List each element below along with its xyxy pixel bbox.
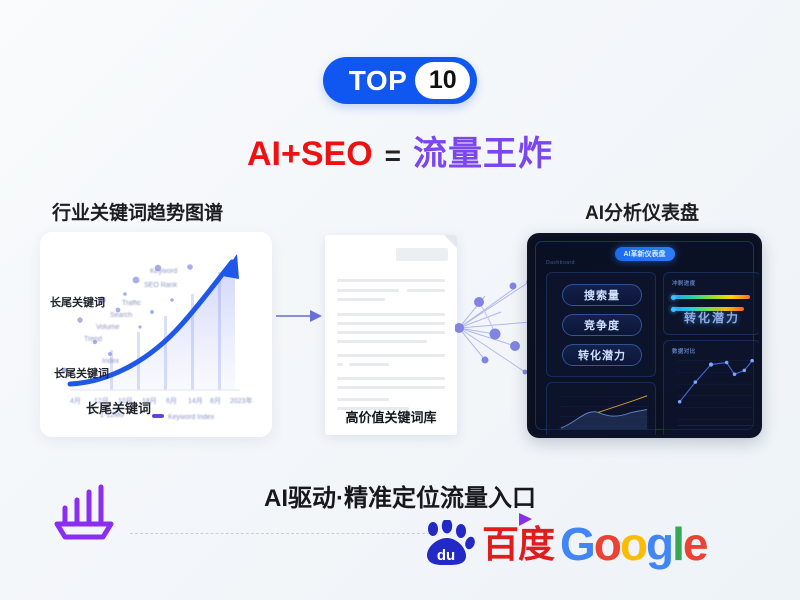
metrics-panel: 搜索量 竞争度 转化潜力 bbox=[546, 272, 656, 377]
doc-caption: 高价值关键词库 bbox=[325, 407, 457, 426]
trend-blur-text-3: Traffic bbox=[122, 300, 141, 307]
line-chart-panel: 数据对比 bbox=[663, 340, 761, 438]
trend-footnote: 1-12Mo bbox=[100, 412, 124, 419]
google-wordmark: G o o g l e bbox=[560, 521, 706, 567]
google-letter-3: o bbox=[620, 521, 646, 567]
trend-label-2: 长尾关键词 bbox=[54, 365, 109, 381]
ai-dashboard-card: AI革新仪表盘 Dashboard 搜索量 竞争度 转化潜力 bbox=[527, 233, 762, 438]
title-right: 流量王炸 bbox=[413, 126, 553, 175]
search-engine-logos: du 百度 G o o g l e bbox=[420, 520, 706, 568]
trend-legend: Keyword Index bbox=[168, 414, 214, 421]
arrow-connector-icon bbox=[276, 308, 324, 324]
google-letter-4: g bbox=[646, 521, 672, 567]
left-section-caption: 行业关键词趋势图谱 bbox=[52, 198, 223, 225]
svg-text:du: du bbox=[437, 547, 455, 564]
progress-panel: 冲刺进度 转化潜力 bbox=[663, 272, 761, 335]
google-letter-5: l bbox=[672, 521, 683, 567]
progress-overlay-label: 转化潜力 bbox=[664, 309, 760, 326]
trend-blur-text-7: Index bbox=[102, 358, 119, 365]
trend-blur-text-6: Trend bbox=[84, 336, 102, 343]
trend-legend-swatch bbox=[152, 414, 164, 420]
top-badge: TOP 10 bbox=[323, 57, 478, 104]
trend-tick-6: 14月 bbox=[188, 396, 203, 406]
trend-chart-card: 长尾关键词 长尾关键词 长尾关键词 Keyword SEO Rank Traff… bbox=[40, 232, 272, 437]
metric-pill-competition[interactable]: 竞争度 bbox=[562, 314, 642, 336]
trend-blur-text-2: SEO Rank bbox=[144, 282, 177, 289]
progress-dot-1 bbox=[671, 295, 676, 300]
trend-tick-7: 8月 bbox=[210, 396, 221, 406]
title-left: AI+SEO bbox=[247, 135, 373, 174]
google-letter-1: G bbox=[560, 521, 594, 567]
dashboard-inner-frame: AI革新仪表盘 Dashboard 搜索量 竞争度 转化潜力 bbox=[535, 241, 754, 430]
google-letter-6: e bbox=[683, 521, 707, 567]
dashboard-subtitle: Dashboard bbox=[546, 260, 575, 266]
trend-tick-1: 4月 bbox=[70, 396, 81, 406]
progress-bar-1 bbox=[674, 295, 750, 299]
trend-tick-2: 12月 bbox=[94, 396, 109, 406]
trend-tick-8: 2023年 bbox=[230, 396, 253, 406]
node-network-connector bbox=[455, 272, 535, 382]
top-badge-number: 10 bbox=[415, 62, 470, 99]
baidu-wordmark: 百度 bbox=[482, 526, 554, 563]
baidu-paw-icon: du bbox=[420, 520, 476, 568]
footer-divider bbox=[130, 533, 430, 534]
doc-header-chip bbox=[396, 248, 448, 261]
area-chart-panel bbox=[546, 382, 656, 438]
progress-panel-title: 冲刺进度 bbox=[672, 279, 696, 287]
trend-tick-4: 18月 bbox=[142, 396, 157, 406]
trend-tick-3: 10月 bbox=[118, 396, 133, 406]
trend-blur-text-4: Search bbox=[110, 312, 132, 319]
play-triangle-icon bbox=[515, 512, 535, 528]
trend-blur-text-5: Volume bbox=[96, 324, 119, 331]
trend-blur-text-1: Keyword bbox=[150, 268, 177, 275]
area-chart-svg bbox=[547, 383, 655, 438]
bar-chart-pedestal-icon bbox=[48, 478, 120, 544]
trend-chart-svg bbox=[40, 232, 272, 437]
right-section-caption: AI分析仪表盘 bbox=[585, 198, 699, 225]
keyword-doc-card: 高价值关键词库 bbox=[325, 235, 457, 435]
google-letter-2: o bbox=[594, 521, 620, 567]
line-chart-svg bbox=[664, 341, 760, 438]
infographic-stage: TOP 10 AI+SEO = 流量王炸 行业关键词趋势图谱 AI分析仪表盘 bbox=[0, 0, 800, 600]
footer-slogan: AI驱动·精准定位流量入口 bbox=[0, 478, 800, 513]
metric-pill-search-volume[interactable]: 搜索量 bbox=[562, 284, 642, 306]
page-title: AI+SEO = 流量王炸 bbox=[0, 126, 800, 175]
top-badge-container: TOP 10 bbox=[0, 57, 800, 104]
trend-tick-5: 6月 bbox=[166, 396, 177, 406]
metric-pill-conversion[interactable]: 转化潜力 bbox=[562, 344, 642, 366]
top-badge-label: TOP bbox=[349, 67, 408, 95]
title-equals: = bbox=[385, 140, 401, 172]
doc-fold-corner bbox=[444, 235, 457, 248]
dashboard-badge: AI革新仪表盘 bbox=[615, 247, 675, 261]
trend-label-1: 长尾关键词 bbox=[50, 294, 105, 310]
